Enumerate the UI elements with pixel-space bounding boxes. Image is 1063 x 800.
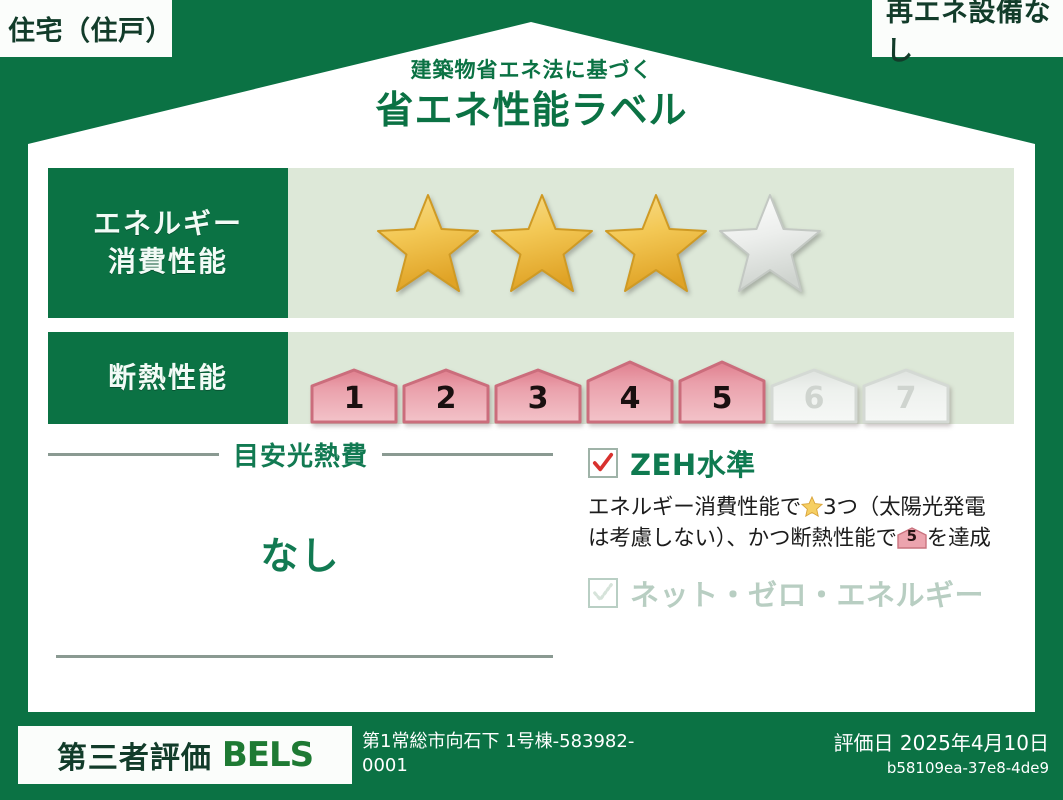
grade-house-number: 5 [678, 381, 766, 416]
utility-cost-bottom-rule [56, 655, 553, 658]
heading-rule-left [48, 453, 219, 456]
grade-house-number: 6 [770, 381, 858, 416]
grade-house-active: 3 [494, 368, 582, 424]
building-identifier: 第1常総市向石下 1号棟-583982-0001 [362, 730, 662, 779]
insulation-label-line1: 断熱性能 [108, 359, 228, 397]
insulation-performance-row: 断熱性能 1234567 [48, 332, 1014, 424]
grade-house-active: 2 [402, 368, 490, 424]
grade-house-active: 1 [310, 368, 398, 424]
grade-house-active: 5 [678, 360, 766, 424]
renewable-equipment-tag: 再エネ設備なし [872, 0, 1063, 57]
building-type-tag: 住宅（住戸） [0, 0, 172, 57]
utility-cost-heading: 目安光熱費 [48, 436, 553, 473]
zeh-panel: ZEH水準 エネルギー消費性能で 3つ（太陽光発電 は考慮しない）、かつ断熱性能… [588, 442, 1018, 614]
energy-performance-label: 住宅（住戸） 再エネ設備なし 建築物省エネ法に基づく 省エネ性能ラベル エネルギ… [0, 0, 1063, 800]
zeh-desc-part1: エネルギー消費性能で [588, 495, 801, 520]
grade-house-inactive: 6 [770, 368, 858, 424]
zeh-description: エネルギー消費性能で 3つ（太陽光発電 は考慮しない）、かつ断熱性能で 5 を達… [588, 492, 1016, 554]
net-zero-energy-label: ネット・ゼロ・エネルギー [630, 572, 984, 614]
evaluation-date: 評価日 2025年4月10日 [834, 730, 1049, 756]
utility-cost-value: なし [48, 525, 553, 580]
energy-performance-label-box: エネルギー 消費性能 [48, 168, 288, 318]
grade-house-number: 4 [586, 381, 674, 416]
net-zero-energy-checkbox[interactable] [588, 578, 618, 608]
bels-logo-jp: 第三者評価 [57, 733, 212, 777]
grade-house-active: 4 [586, 360, 674, 424]
zeh-desc-part2: は考慮しない）、かつ断熱性能で [588, 526, 897, 551]
net-zero-energy-row: ネット・ゼロ・エネルギー [588, 572, 1018, 614]
energy-label-line1: エネルギー [93, 205, 243, 243]
zeh-desc-star-count: 3つ（太陽光発電 [823, 495, 986, 520]
zeh-standard-label: ZEH水準 [630, 442, 756, 484]
star-empty-icon [716, 191, 824, 295]
title-subtitle: 建築物省エネ法に基づく [0, 58, 1063, 83]
star-filled-icon [602, 191, 710, 295]
grade-house-number: 3 [494, 381, 582, 416]
page-title: 建築物省エネ法に基づく 省エネ性能ラベル [0, 58, 1063, 136]
zeh-desc-part3: を達成 [927, 526, 991, 551]
energy-performance-value [288, 168, 1014, 318]
star-filled-icon [488, 191, 596, 295]
grade-house-number: 7 [862, 381, 950, 416]
utility-cost-heading-label: 目安光熱費 [233, 436, 368, 473]
insulation-performance-value: 1234567 [288, 332, 1014, 424]
title-main: 省エネ性能ラベル [0, 85, 1063, 136]
utility-cost-panel: 目安光熱費 なし [48, 436, 553, 668]
evaluation-date-block: 評価日 2025年4月10日 b58109ea-37e8-4de9 [834, 730, 1049, 779]
insulation-grade-scale: 1234567 [288, 332, 950, 424]
zeh-standard-row: ZEH水準 [588, 442, 1018, 484]
inline-grade-house-icon: 5 [897, 527, 927, 549]
grade-house-number: 2 [402, 381, 490, 416]
zeh-checkbox[interactable] [588, 448, 618, 478]
heading-rule-right [382, 453, 553, 456]
evaluation-hash: b58109ea-37e8-4de9 [834, 758, 1049, 779]
grade-house-inactive: 7 [862, 368, 950, 424]
energy-label-line2: 消費性能 [108, 243, 228, 281]
grade-house-number: 1 [310, 381, 398, 416]
bels-logo: 第三者評価 BELS [18, 726, 352, 784]
bels-logo-en: BELS [222, 735, 313, 775]
inline-grade-house-number: 5 [897, 526, 927, 548]
star-filled-icon [374, 191, 482, 295]
star-rating [288, 191, 824, 295]
building-type-tag-label: 住宅（住戸） [8, 9, 172, 48]
footer-bar: 第三者評価 BELS 第1常総市向石下 1号棟-583982-0001 評価日 … [0, 712, 1063, 800]
energy-performance-row: エネルギー 消費性能 [48, 168, 1014, 318]
insulation-performance-label-box: 断熱性能 [48, 332, 288, 424]
inline-star-icon [801, 495, 823, 516]
